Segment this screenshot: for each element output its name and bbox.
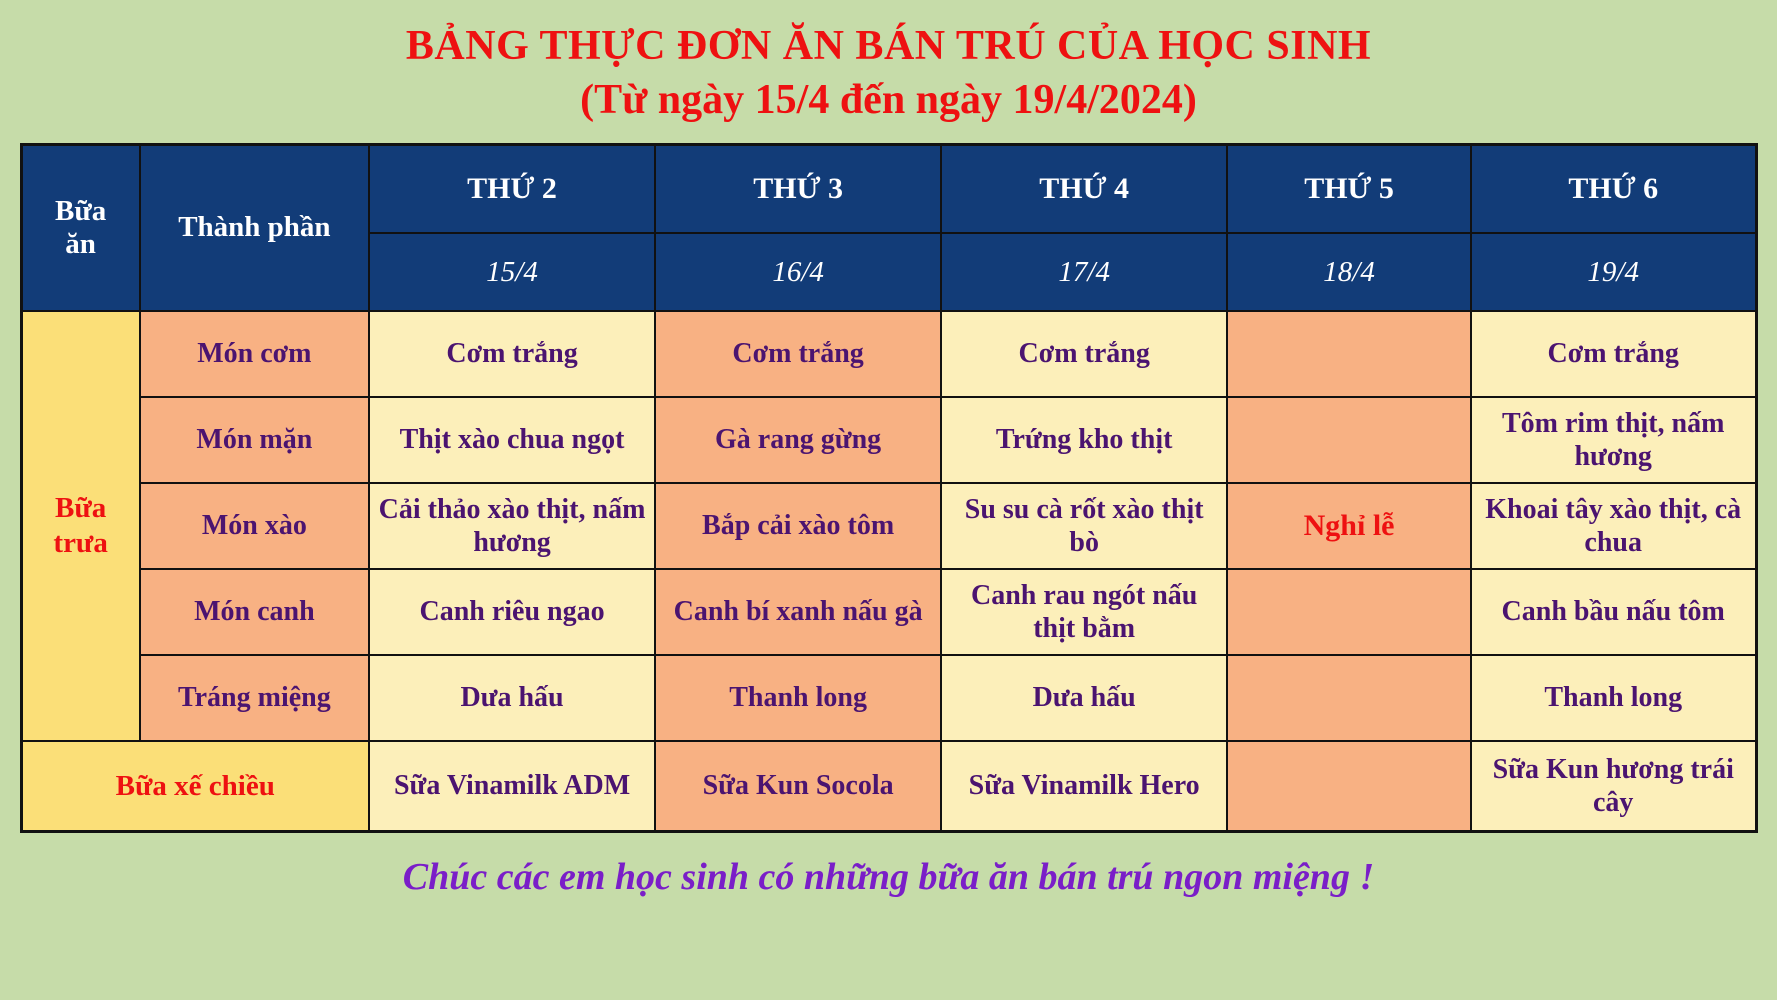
title-line-2: (Từ ngày 15/4 đến ngày 19/4/2024) (406, 76, 1371, 126)
lunch-meal-label: Bữa trưa (21, 311, 140, 741)
table-row: Món canh Canh riêu ngao Canh bí xanh nấu… (21, 569, 1756, 655)
cell-stirfry-wed: Su su cà rốt xào thịt bò (941, 483, 1227, 569)
cell-main-mon: Thịt xào chua ngọt (369, 397, 655, 483)
table-row: Món xào Cải thảo xào thịt, nấm hương Bắp… (21, 483, 1756, 569)
header-day-3: THỨ 4 (941, 145, 1227, 234)
page-title: BẢNG THỰC ĐƠN ĂN BÁN TRÚ CỦA HỌC SINH (T… (406, 22, 1371, 125)
title-line-1: BẢNG THỰC ĐƠN ĂN BÁN TRÚ CỦA HỌC SINH (406, 22, 1371, 72)
component-soup: Món canh (140, 569, 369, 655)
cell-snack-tue: Sữa Kun Socola (655, 741, 941, 832)
table-header-row-days: Bữa ăn Thành phần THỨ 2 THỨ 3 THỨ 4 THỨ … (21, 145, 1756, 234)
header-component-column: Thành phần (140, 145, 369, 312)
table-row: Bữa trưa Món cơm Cơm trắng Cơm trắng Cơm… (21, 311, 1756, 397)
cell-soup-fri: Canh bầu nấu tôm (1471, 569, 1756, 655)
component-stirfry: Món xào (140, 483, 369, 569)
table-row: Bữa xế chiều Sữa Vinamilk ADM Sữa Kun So… (21, 741, 1756, 832)
cell-rice-tue: Cơm trắng (655, 311, 941, 397)
header-date-4: 18/4 (1227, 233, 1471, 311)
menu-board: BẢNG THỰC ĐƠN ĂN BÁN TRÚ CỦA HỌC SINH (T… (0, 0, 1777, 1000)
cell-dessert-mon: Dưa hấu (369, 655, 655, 741)
header-day-5: THỨ 6 (1471, 145, 1756, 234)
component-dessert: Tráng miệng (140, 655, 369, 741)
cell-rice-wed: Cơm trắng (941, 311, 1227, 397)
cell-stirfry-mon: Cải thảo xào thịt, nấm hương (369, 483, 655, 569)
cell-rice-thu (1227, 311, 1471, 397)
footer-message: Chúc các em học sinh có những bữa ăn bán… (403, 855, 1374, 899)
cell-snack-wed: Sữa Vinamilk Hero (941, 741, 1227, 832)
cell-soup-mon: Canh riêu ngao (369, 569, 655, 655)
cell-dessert-fri: Thanh long (1471, 655, 1756, 741)
header-date-1: 15/4 (369, 233, 655, 311)
menu-table-container: Bữa ăn Thành phần THỨ 2 THỨ 3 THỨ 4 THỨ … (20, 143, 1758, 833)
header-day-2: THỨ 3 (655, 145, 941, 234)
cell-soup-wed: Canh rau ngót nấu thịt bằm (941, 569, 1227, 655)
header-date-2: 16/4 (655, 233, 941, 311)
cell-main-thu (1227, 397, 1471, 483)
cell-dessert-thu (1227, 655, 1471, 741)
lunch-label-line1: Bữa (55, 492, 106, 524)
lunch-label-line2: trưa (53, 527, 107, 559)
header-meal-column: Bữa ăn (21, 145, 140, 312)
menu-table: Bữa ăn Thành phần THỨ 2 THỨ 3 THỨ 4 THỨ … (20, 143, 1758, 833)
cell-snack-mon: Sữa Vinamilk ADM (369, 741, 655, 832)
cell-main-fri: Tôm rim thịt, nấm hương (1471, 397, 1756, 483)
cell-dessert-wed: Dưa hấu (941, 655, 1227, 741)
header-day-4: THỨ 5 (1227, 145, 1471, 234)
cell-holiday-thu: Nghỉ lễ (1227, 483, 1471, 569)
cell-rice-mon: Cơm trắng (369, 311, 655, 397)
cell-stirfry-tue: Bắp cải xào tôm (655, 483, 941, 569)
cell-snack-fri: Sữa Kun hương trái cây (1471, 741, 1756, 832)
component-main: Món mặn (140, 397, 369, 483)
cell-main-wed: Trứng kho thịt (941, 397, 1227, 483)
cell-dessert-tue: Thanh long (655, 655, 941, 741)
header-date-3: 17/4 (941, 233, 1227, 311)
table-row: Món mặn Thịt xào chua ngọt Gà rang gừng … (21, 397, 1756, 483)
cell-soup-tue: Canh bí xanh nấu gà (655, 569, 941, 655)
snack-meal-label: Bữa xế chiều (21, 741, 369, 832)
header-meal-label-line1: Bữa (55, 195, 106, 227)
cell-stirfry-fri: Khoai tây xào thịt, cà chua (1471, 483, 1756, 569)
component-rice: Món cơm (140, 311, 369, 397)
header-day-1: THỨ 2 (369, 145, 655, 234)
cell-rice-fri: Cơm trắng (1471, 311, 1756, 397)
cell-snack-thu (1227, 741, 1471, 832)
header-date-5: 19/4 (1471, 233, 1756, 311)
cell-soup-thu (1227, 569, 1471, 655)
cell-main-tue: Gà rang gừng (655, 397, 941, 483)
table-row: Tráng miệng Dưa hấu Thanh long Dưa hấu T… (21, 655, 1756, 741)
header-meal-label-line2: ăn (65, 228, 96, 260)
